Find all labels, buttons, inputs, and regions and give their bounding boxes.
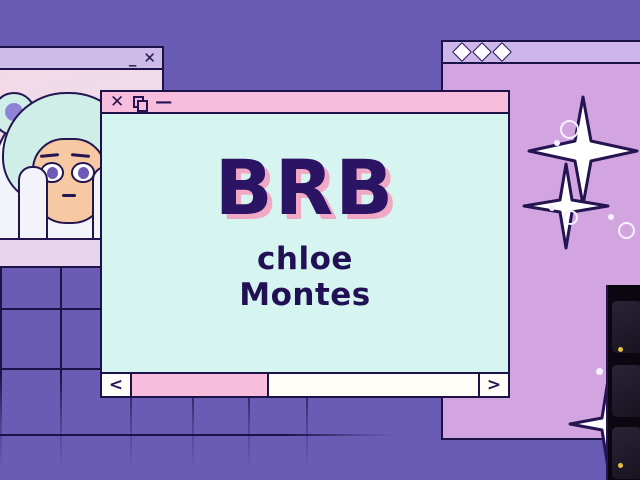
amber-dot	[618, 347, 623, 352]
minimize-icon[interactable]: —	[155, 94, 172, 111]
horizontal-scrollbar[interactable]: < >	[102, 372, 508, 396]
diamond-icon	[452, 42, 472, 62]
subtitle-line-1: chloe	[257, 241, 353, 277]
window-main-body: BRB chloe Montes < >	[102, 114, 508, 396]
small-dot	[549, 205, 555, 211]
dark-card	[612, 365, 640, 417]
page-title: BRB	[215, 152, 395, 224]
small-dot	[554, 140, 560, 146]
scroll-right-button[interactable]: >	[478, 374, 508, 396]
scroll-thumb[interactable]	[132, 374, 269, 396]
dark-side-panel	[606, 285, 640, 480]
diamond-icon	[492, 42, 512, 62]
dark-card	[612, 301, 640, 353]
subtitle: chloe Montes	[239, 241, 371, 314]
amber-dot	[618, 463, 623, 468]
window-left-titlebar[interactable]: _ ✕	[0, 48, 162, 70]
window-right-titlebar[interactable]	[443, 42, 640, 64]
diamond-icon	[472, 42, 492, 62]
small-dot	[596, 368, 603, 375]
main-content: BRB chloe Montes	[102, 114, 508, 372]
minimize-icon[interactable]: _	[129, 51, 137, 66]
close-icon[interactable]: ✕	[143, 51, 156, 66]
window-main[interactable]: ✕ — BRB chloe Montes < >	[100, 90, 510, 398]
subtitle-line-2: Montes	[239, 277, 371, 313]
ring-dot	[618, 222, 635, 239]
small-dot	[608, 214, 614, 220]
screenshot-stage: _ ✕	[0, 0, 640, 480]
dark-card	[612, 427, 640, 479]
maximize-icon[interactable]	[133, 96, 144, 108]
ring-dot	[560, 120, 579, 139]
scroll-track[interactable]	[132, 374, 478, 396]
window-main-titlebar[interactable]: ✕ —	[102, 92, 508, 114]
ring-dot	[563, 210, 578, 225]
scroll-left-button[interactable]: <	[102, 374, 132, 396]
close-icon[interactable]: ✕	[110, 94, 124, 111]
